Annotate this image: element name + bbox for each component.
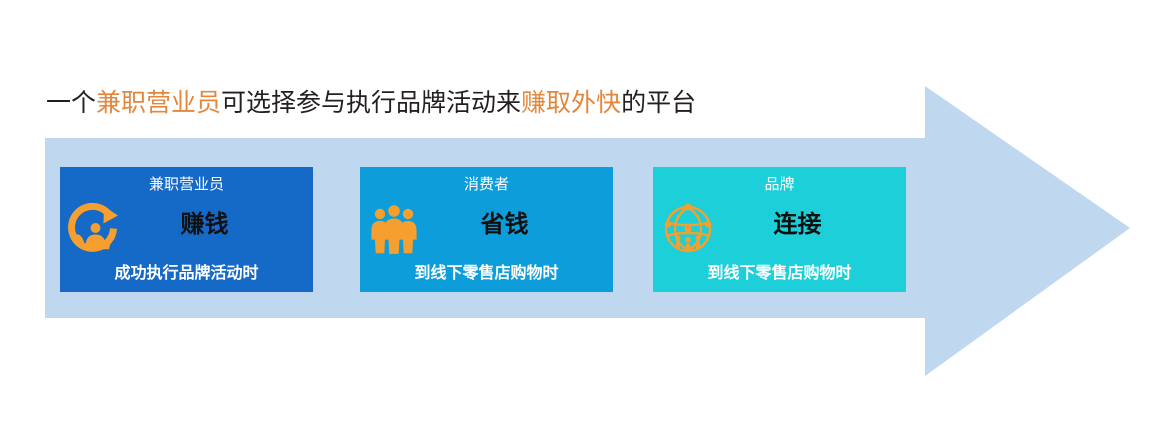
card-footer-label: 到线下零售店购物时 (360, 263, 613, 285)
card-main-label: 省钱 (418, 209, 613, 241)
page-title: 一个兼职营业员可选择参与执行品牌活动来赚取外快的平台 (46, 88, 696, 120)
headline-segment-0: 一个 (46, 90, 96, 117)
headline-segment-2: 可选择参与执行品牌活动来 (221, 90, 521, 117)
headline-segment-4: 的平台 (621, 90, 696, 117)
card-main-label: 连接 (711, 209, 906, 241)
globe-network-people-icon (661, 200, 717, 258)
headline-segment-1-highlight: 兼职营业员 (96, 90, 221, 117)
card-title: 品牌 (653, 175, 906, 195)
card-consumer[interactable]: 消费者 省钱 到线下零售店购物时 (360, 167, 613, 292)
card-title: 消费者 (360, 175, 613, 195)
slide-canvas: 一个兼职营业员可选择参与执行品牌活动来赚取外快的平台 兼职营业员 赚钱 成功执行… (0, 0, 1150, 430)
card-brand[interactable]: 品牌 (653, 167, 906, 292)
person-circular-arrow-icon (68, 200, 124, 258)
group-of-people-icon (368, 200, 424, 258)
card-main-label: 赚钱 (118, 209, 313, 241)
benefit-cards-row: 兼职营业员 赚钱 成功执行品牌活动时 消费者 (60, 167, 905, 292)
card-part-time-clerk[interactable]: 兼职营业员 赚钱 成功执行品牌活动时 (60, 167, 313, 292)
card-title: 兼职营业员 (60, 175, 313, 195)
card-footer-label: 到线下零售店购物时 (653, 263, 906, 285)
card-footer-label: 成功执行品牌活动时 (60, 263, 313, 285)
headline-segment-3-highlight: 赚取外快 (521, 90, 621, 117)
